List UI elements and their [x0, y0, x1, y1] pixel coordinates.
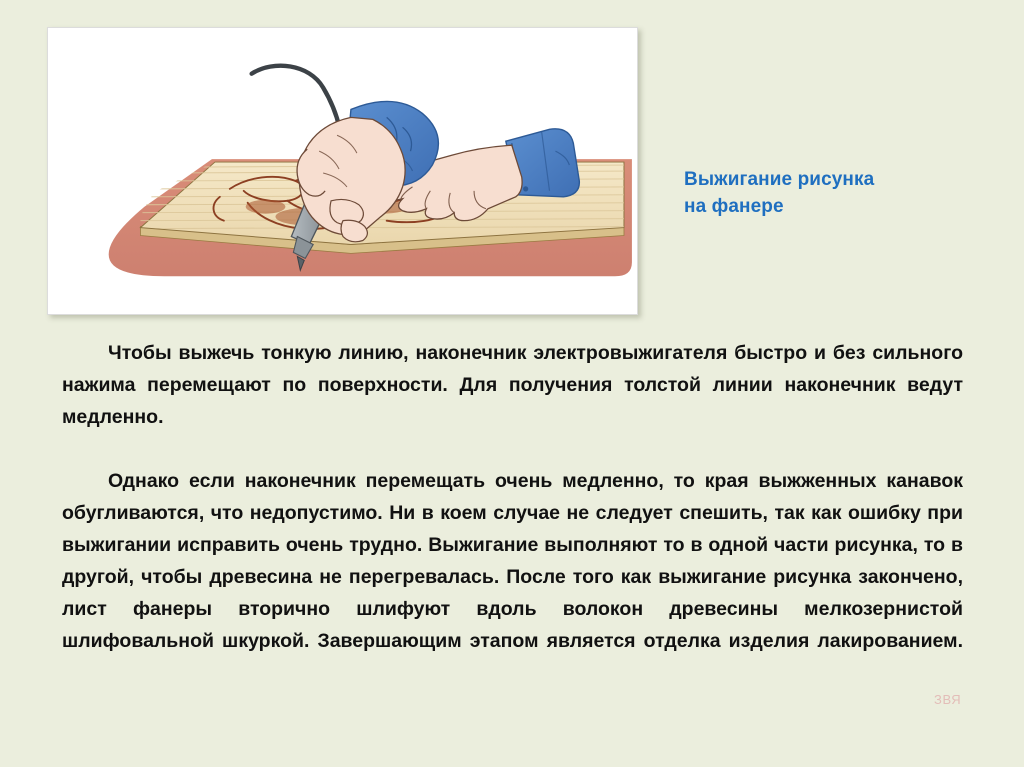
body-paragraph-2: Однако если наконечник перемещать очень … [62, 465, 963, 689]
pyrography-illustration-svg [52, 32, 633, 310]
slide-title-line-1: Выжигание рисунка [684, 167, 984, 194]
sleeve-button [523, 186, 528, 191]
slide-title-line-2: на фанере [684, 194, 984, 221]
slide-canvas: Выжигание рисунка на фанере Чтобы выжечь… [0, 0, 1024, 767]
watermark-label: ЗВЯ [934, 692, 961, 707]
illustration-frame [47, 27, 638, 315]
body-paragraph-1: Чтобы выжечь тонкую линию, наконечник эл… [62, 337, 963, 465]
slide-title: Выжигание рисунка на фанере [684, 167, 984, 221]
illustration-image [52, 32, 633, 310]
body-text: Чтобы выжечь тонкую линию, наконечник эл… [62, 337, 963, 689]
